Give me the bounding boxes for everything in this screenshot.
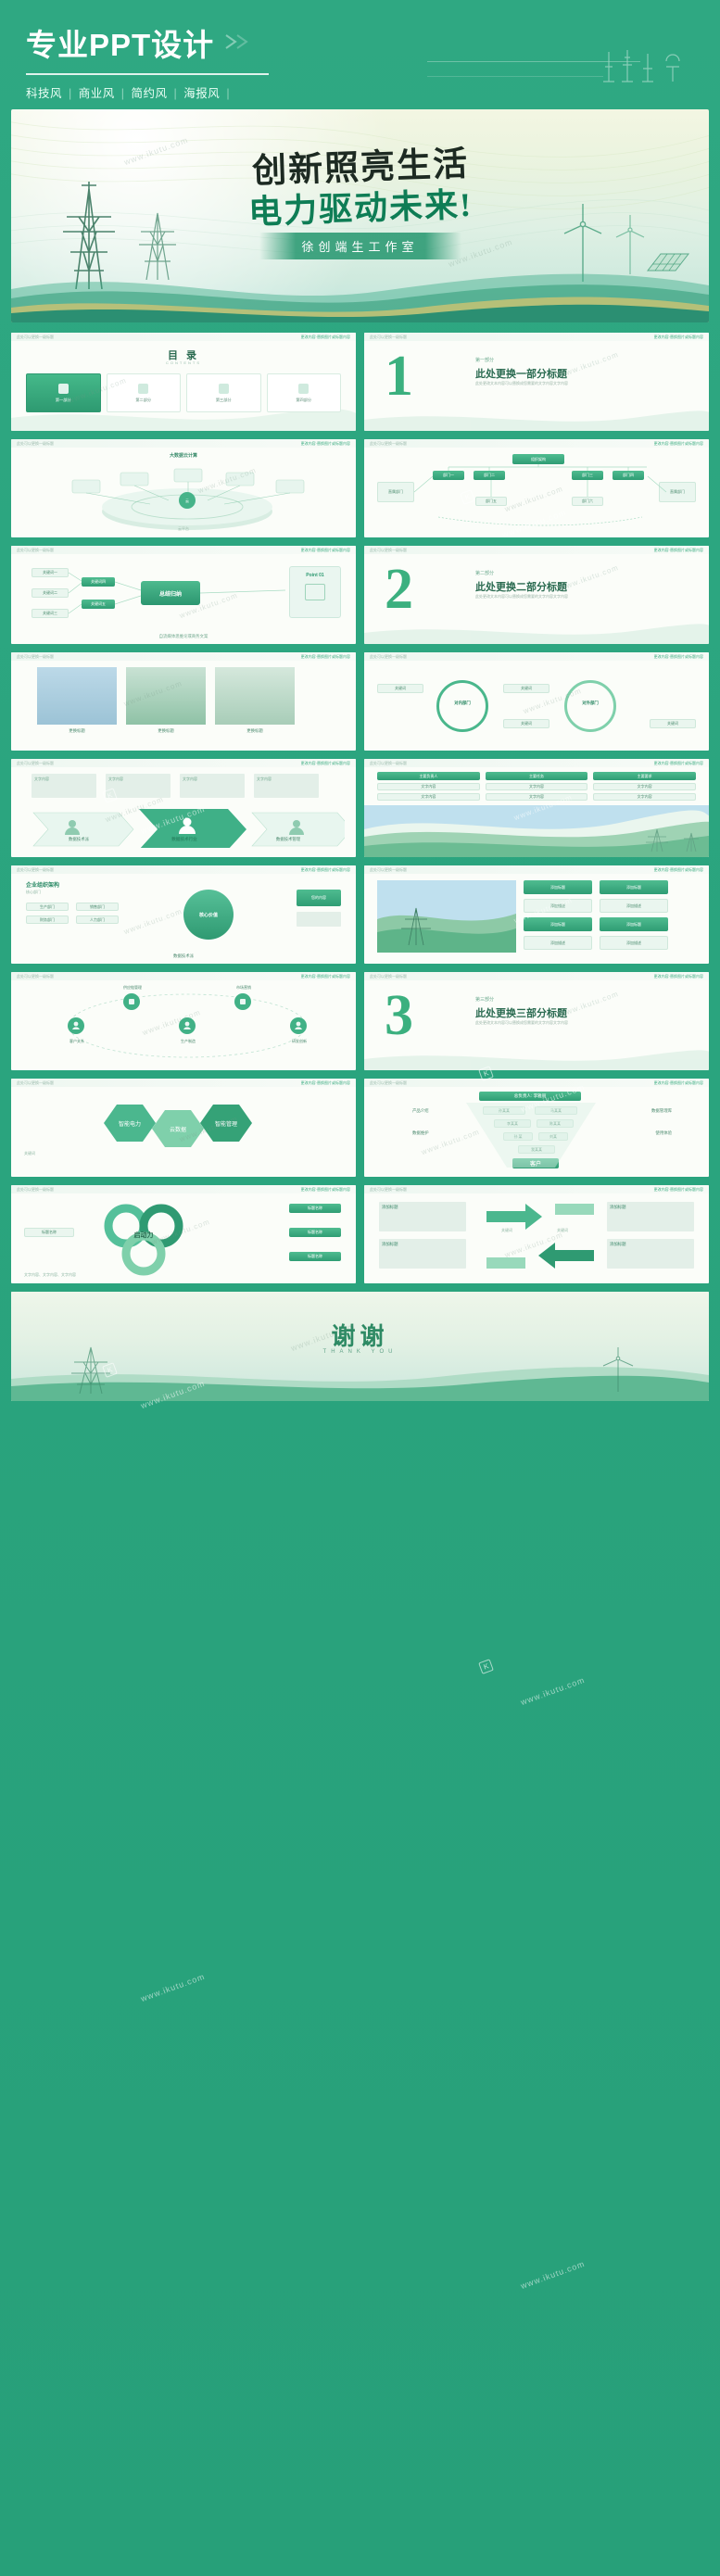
slide-arrow-cross[interactable]: 此处可以更换一级标题 更改内容·替换图片或标题内容 添加标题 添加标题 添加标题… <box>364 1185 709 1283</box>
slide-radial-diagram[interactable]: 此处可以更换一级标题 更改内容·替换图片或标题内容 大数据云计算 云 <box>11 439 356 537</box>
arrow-cross-diagram <box>477 1202 603 1270</box>
watermark-badge: K <box>478 1659 494 1674</box>
watermark: www.ikutu.com <box>559 563 619 592</box>
watermark: www.ikutu.com <box>122 907 183 936</box>
cross-card[interactable]: 添加标题 <box>607 1202 694 1231</box>
slide-topbar: 此处可以更换一级标题 更改内容·替换图片或标题内容 <box>364 546 709 554</box>
topbar-right: 更改内容·替换图片或标题内容 <box>301 761 350 766</box>
title-underline <box>26 73 269 75</box>
org-node[interactable]: 销售部门 <box>76 903 119 911</box>
topbar-left: 此处可以更换一级标题 <box>370 1187 407 1193</box>
document-icon <box>58 384 69 394</box>
ring-left[interactable] <box>436 680 488 732</box>
top-card-label: 文字内容 <box>32 774 96 785</box>
cycle-node-label: 供应链管理 <box>109 985 156 991</box>
section-number: 3 <box>385 987 413 1044</box>
cross-card-label: 添加标题 <box>607 1239 694 1250</box>
table-column-header: 主要要求 <box>593 772 696 780</box>
cross-card-label: 添加标题 <box>379 1239 466 1250</box>
top-card-label: 文字内容 <box>180 774 245 785</box>
briefcase-icon <box>298 384 309 394</box>
cycle-diagram <box>11 983 356 1068</box>
trefoil-item[interactable]: 标题名称 <box>289 1228 341 1237</box>
org-center-circle[interactable]: 核心价值 <box>183 890 234 940</box>
trefoil-item[interactable]: 标题名称 <box>289 1204 341 1213</box>
section-title: 此处更换三部分标题 <box>475 1005 567 1020</box>
topbar-right: 更改内容·替换图片或标题内容 <box>301 1187 350 1193</box>
slide-grid-cards[interactable]: 此处可以更换一级标题 更改内容·替换图片或标题内容 添加标题 添加标题 添加描述… <box>364 865 709 964</box>
slide-two-rings[interactable]: 此处可以更换一级标题 更改内容·替换图片或标题内容 对内部门 对外部门 关键词 … <box>364 652 709 751</box>
topbar-right: 更改内容·替换图片或标题内容 <box>654 548 703 553</box>
section-number: 1 <box>385 347 413 405</box>
wind-turbine-icon <box>592 1345 644 1392</box>
topbar-left: 此处可以更换一级标题 <box>17 867 54 873</box>
photo-thumbnail[interactable] <box>37 667 117 725</box>
photo-caption: 更换标题 <box>126 728 206 734</box>
table-column-header: 主要任务 <box>486 772 588 780</box>
slide-topbar: 此处可以更换一级标题 更改内容·替换图片或标题内容 <box>11 759 356 767</box>
radial-diagram: 云 <box>11 456 356 532</box>
grid-card[interactable]: 添加标题 <box>524 917 592 931</box>
slide-trefoil[interactable]: 此处可以更换一级标题 更改内容·替换图片或标题内容 启动力 标题名称 标题名称 … <box>11 1185 356 1283</box>
landscape-photo <box>364 805 709 857</box>
topbar-right: 更改内容·替换图片或标题内容 <box>301 974 350 979</box>
cross-card[interactable]: 添加标题 <box>379 1202 466 1231</box>
hex-caption: 关键词 <box>24 1151 35 1156</box>
cross-card[interactable]: 添加标题 <box>607 1239 694 1269</box>
photo-caption: 更换标题 <box>37 728 117 734</box>
topbar-right: 更改内容·替换图片或标题内容 <box>301 441 350 447</box>
svg-text:云: 云 <box>185 499 189 503</box>
topbar-left: 此处可以更换一级标题 <box>17 335 54 340</box>
ring-item[interactable]: 关键词 <box>650 719 696 728</box>
hero-wave <box>11 258 709 322</box>
slide-catalog[interactable]: 此处可以更换一级标题 更改内容·替换图片或标题内容 目 录 CONTENTS 第… <box>11 333 356 431</box>
slide-topbar: 此处可以更换一级标题 更改内容·替换图片或标题内容 <box>11 972 356 980</box>
org-side-card[interactable]: 您的内容 <box>297 890 341 906</box>
slide-thank-you[interactable]: 谢谢 THANK YOU www.ikutu.com <box>11 1292 709 1401</box>
table-cell: 文字内容 <box>377 783 480 790</box>
grid-card[interactable]: 添加标题 <box>524 880 592 894</box>
topbar-left: 此处可以更换一级标题 <box>17 441 54 447</box>
topbar-left: 此处可以更换一级标题 <box>370 867 407 873</box>
catalog-card-label: 第三部分 <box>216 398 232 403</box>
topbar-left: 此处可以更换一级标题 <box>17 654 54 660</box>
slide-org-tree[interactable]: 此处可以更换一级标题 更改内容·替换图片或标题内容 组织架构 直属部门 直属部门… <box>364 439 709 537</box>
hero-title-line2: 电力驱动未来! <box>247 178 474 234</box>
hero-slide: 创新照亮生活 电力驱动未来! 徐创端生工作室 www.ikutu.com www… <box>11 109 709 322</box>
slide-topbar: 此处可以更换一级标题 更改内容·替换图片或标题内容 <box>11 865 356 874</box>
grid-card[interactable]: 添加标题 <box>600 880 668 894</box>
trefoil-left-item[interactable]: 标题名称 <box>24 1228 74 1237</box>
table-row: 文字内容 文字内容 文字内容 <box>377 793 696 801</box>
org-node[interactable]: 财务部门 <box>26 915 69 924</box>
top-card-label: 文字内容 <box>106 774 171 785</box>
hero-subtitle: 徐创端生工作室 <box>259 233 461 259</box>
topbar-left: 此处可以更换一级标题 <box>17 1187 54 1193</box>
power-transmission-tower-icon <box>61 1342 126 1394</box>
catalog-card-label: 第一部分 <box>56 398 71 403</box>
table-cell: 文字内容 <box>486 793 588 801</box>
slide-hex-cluster[interactable]: 此处可以更换一级标题 更改内容·替换图片或标题内容 智能电力 云数据 智能管理 … <box>11 1079 356 1177</box>
svg-text:智能电力: 智能电力 <box>119 1120 141 1128</box>
slide-org-structure[interactable]: 此处可以更换一级标题 更改内容·替换图片或标题内容 企业组织架构 核心部门 生产… <box>11 865 356 964</box>
cross-card-label: 添加标题 <box>607 1202 694 1213</box>
people-icon <box>219 384 229 394</box>
svg-text:启动力: 启动力 <box>134 1231 154 1239</box>
slide-grid: 此处可以更换一级标题 更改内容·替换图片或标题内容 目 录 CONTENTS 第… <box>11 333 709 1401</box>
double-chevron-right-icon <box>224 33 256 55</box>
topbar-left: 此处可以更换一级标题 <box>17 1080 54 1086</box>
slide-mindmap[interactable]: 此处可以更换一级标题 更改内容·替换图片或标题内容 总结归纳 关键词一 关键词二… <box>11 546 356 644</box>
catalog-card-label: 第四部分 <box>296 398 311 403</box>
slide-topbar: 此处可以更换一级标题 更改内容·替换图片或标题内容 <box>11 1079 356 1087</box>
section-title: 此处更换二部分标题 <box>475 579 567 594</box>
tag-1: 商业风 <box>79 87 115 100</box>
svg-text:智能管理: 智能管理 <box>215 1120 237 1128</box>
slide-topbar: 此处可以更换一级标题 更改内容·替换图片或标题内容 <box>364 1185 709 1193</box>
topbar-left: 此处可以更换一级标题 <box>370 548 407 553</box>
topbar-right: 更改内容·替换图片或标题内容 <box>301 654 350 660</box>
table-cell: 文字内容 <box>377 793 480 801</box>
cross-center-label: 关键词 <box>557 1228 568 1233</box>
top-card[interactable]: 文字内容 <box>32 774 96 798</box>
ring-item[interactable]: 关键词 <box>503 719 549 728</box>
ring-item[interactable]: 关键词 <box>503 684 549 693</box>
header-decoration <box>427 48 696 93</box>
org-node[interactable]: 生产部门 <box>26 903 69 911</box>
tag-2: 简约风 <box>132 87 168 100</box>
slide-topbar: 此处可以更换一级标题 更改内容·替换图片或标题内容 <box>11 652 356 661</box>
top-card[interactable]: 文字内容 <box>180 774 245 798</box>
topbar-left: 此处可以更换一级标题 <box>370 761 407 766</box>
org-node[interactable]: 人力部门 <box>76 915 119 924</box>
page-title: 专业PPT设计 <box>26 20 214 65</box>
grid-photo[interactable] <box>377 880 516 953</box>
slide-funnel[interactable]: 此处可以更换一级标题 更改内容·替换图片或标题内容 总负责人: 李雅丽 孙某某 … <box>364 1079 709 1177</box>
grid-card[interactable]: 添加描述 <box>524 899 592 913</box>
top-card[interactable]: 文字内容 <box>254 774 319 798</box>
mindmap-connectors <box>11 546 356 644</box>
slide-topbar: 此处可以更换一级标题 更改内容·替换图片或标题内容 <box>11 1185 356 1193</box>
cross-center-label: 关键词 <box>501 1228 512 1233</box>
grid-card[interactable]: 添加标题 <box>600 917 668 931</box>
ring-right[interactable] <box>564 680 616 732</box>
topbar-right: 更改内容·替换图片或标题内容 <box>654 867 703 873</box>
slide-cycle[interactable]: 此处可以更换一级标题 更改内容·替换图片或标题内容 客户关系 供应链管理 <box>11 972 356 1070</box>
slide-topbar: 此处可以更换一级标题 更改内容·替换图片或标题内容 <box>11 333 356 341</box>
slide-table-photo[interactable]: 此处可以更换一级标题 更改内容·替换图片或标题内容 主要负责人 主要任务 主要要… <box>364 759 709 857</box>
cross-card-label: 添加标题 <box>379 1202 466 1213</box>
poster-page: 专业PPT设计 科技风|商业风|简约风|海报风| <box>0 0 720 2576</box>
svg-text:云数据: 云数据 <box>170 1126 186 1133</box>
slide-arrow-people[interactable]: 此处可以更换一级标题 更改内容·替换图片或标题内容 文字内容 文字内容 文字内容… <box>11 759 356 857</box>
section-desc: 此处更改文本内容可以替换成您需要的文字内容文字内容 <box>475 381 661 387</box>
catalog-subtitle: CONTENTS <box>11 360 356 365</box>
top-card-label: 文字内容 <box>254 774 319 785</box>
topbar-right: 更改内容·替换图片或标题内容 <box>654 974 703 979</box>
cycle-node-label: 生产制造 <box>165 1039 211 1044</box>
topbar-right: 更改内容·替换图片或标题内容 <box>654 761 703 766</box>
cycle-node-label: 客户关系 <box>54 1039 100 1044</box>
table-header-row: 主要负责人 主要任务 主要要求 <box>377 772 696 780</box>
org-structure-subtitle: 核心部门 <box>26 890 41 895</box>
tag-3: 海报风 <box>183 87 220 100</box>
cycle-node-label: 研发创新 <box>276 1039 322 1044</box>
org-side-placeholder <box>297 912 341 927</box>
watermark: www.ikutu.com <box>559 350 619 379</box>
trefoil-item[interactable]: 标题名称 <box>289 1252 341 1261</box>
section-title: 此处更换一部分标题 <box>475 366 567 381</box>
grid-card[interactable]: 添加描述 <box>600 936 668 950</box>
catalog-card-2[interactable]: 第二部分 <box>107 373 182 412</box>
topbar-right: 更改内容·替换图片或标题内容 <box>301 1080 350 1086</box>
header: 专业PPT设计 科技风|商业风|简约风|海报风| <box>0 0 720 109</box>
watermark: www.ikutu.com <box>519 1675 586 1707</box>
org-structure-title: 企业组织架构 <box>26 880 59 889</box>
catalog-card-label: 第二部分 <box>135 398 151 403</box>
slide-topbar: 此处可以更换一级标题 更改内容·替换图片或标题内容 <box>364 333 709 341</box>
slide-topbar: 此处可以更换一级标题 更改内容·替换图片或标题内容 <box>364 652 709 661</box>
topbar-right: 更改内容·替换图片或标题内容 <box>654 335 703 340</box>
funnel-shape <box>364 1079 709 1177</box>
topbar-right: 更改内容·替换图片或标题内容 <box>301 335 350 340</box>
cycle-node-label: 市场营销 <box>221 985 267 991</box>
catalog-card-1[interactable]: 第一部分 <box>26 373 101 412</box>
chart-icon <box>138 384 148 394</box>
slide-section-2[interactable]: 此处可以更换一级标题 更改内容·替换图片或标题内容 2 第二部分 此处更换二部分… <box>364 546 709 644</box>
grid-card[interactable]: 添加描述 <box>600 899 668 913</box>
topbar-right: 更改内容·替换图片或标题内容 <box>654 1187 703 1193</box>
slide-photo-strip[interactable]: 此处可以更换一级标题 更改内容·替换图片或标题内容 更换标题 更换标题 更换标题… <box>11 652 356 751</box>
table-cell: 文字内容 <box>593 783 696 790</box>
grid-card[interactable]: 添加描述 <box>524 936 592 950</box>
section-label: 第三部分 <box>475 996 494 1003</box>
slide-topbar: 此处可以更换一级标题 更改内容·替换图片或标题内容 <box>364 759 709 767</box>
topbar-right: 更改内容·替换图片或标题内容 <box>301 867 350 873</box>
section-desc: 此处更改文本内容可以替换成您需要的文字内容文字内容 <box>475 594 661 600</box>
trefoil-diagram: 启动力 <box>83 1204 204 1276</box>
diagram-caption: 云平台 <box>11 526 356 532</box>
slide-topbar: 此处可以更换一级标题 更改内容·替换图片或标题内容 <box>364 972 709 980</box>
table-cell: 文字内容 <box>593 793 696 801</box>
photo-thumbnail[interactable] <box>126 667 206 725</box>
topbar-left: 此处可以更换一级标题 <box>370 654 407 660</box>
watermark: www.ikutu.com <box>139 1972 206 2003</box>
section-number: 2 <box>385 561 413 618</box>
topbar-left: 此处可以更换一级标题 <box>17 761 54 766</box>
ring-item[interactable]: 关键词 <box>377 684 423 693</box>
hex-cluster-diagram: 智能电力 云数据 智能管理 <box>89 1101 285 1168</box>
slide-topbar: 此处可以更换一级标题 更改内容·替换图片或标题内容 <box>364 865 709 874</box>
table-column-header: 主要负责人 <box>377 772 480 780</box>
ring-right-label: 对外部门 <box>572 701 609 706</box>
ring-left-label: 对内部门 <box>444 701 481 706</box>
topbar-right: 更改内容·替换图片或标题内容 <box>654 654 703 660</box>
section-label: 第一部分 <box>475 357 494 363</box>
catalog-card-3[interactable]: 第三部分 <box>186 373 261 412</box>
topbar-left: 此处可以更换一级标题 <box>370 335 407 340</box>
slide-section-1[interactable]: 此处可以更换一级标题 更改内容·替换图片或标题内容 1 第一部分 此处更换一部分… <box>364 333 709 431</box>
watermark: www.ikutu.com <box>559 990 619 1018</box>
section-label: 第二部分 <box>475 570 494 576</box>
cross-card[interactable]: 添加标题 <box>379 1239 466 1269</box>
topbar-left: 此处可以更换一级标题 <box>17 974 54 979</box>
arrow-item-label: 数据技术行业 <box>141 837 228 842</box>
topbar-left: 此处可以更换一级标题 <box>370 974 407 979</box>
photo-caption: 更换标题 <box>215 728 295 734</box>
slide-topbar: 此处可以更换一级标题 更改内容·替换图片或标题内容 <box>11 439 356 448</box>
org-structure-caption: 数据技术派 <box>11 953 356 959</box>
arrow-item-label: 数据技术管理 <box>245 837 332 842</box>
slide-section-3[interactable]: 此处可以更换一级标题 更改内容·替换图片或标题内容 3 第三部分 此处更换三部分… <box>364 972 709 1070</box>
catalog-card-4[interactable]: 第四部分 <box>267 373 342 412</box>
arrow-item-label: 数据技术派 <box>35 837 122 842</box>
section-desc: 此处更改文本内容可以替换成您需要的文字内容文字内容 <box>475 1020 661 1027</box>
org-tree-connectors <box>364 439 709 537</box>
mindmap-caption: 自流媒体思维论或商务文案 <box>11 634 356 639</box>
table-cell: 文字内容 <box>486 783 588 790</box>
tag-0: 科技风 <box>26 87 62 100</box>
watermark: www.ikutu.com <box>519 2259 586 2291</box>
trefoil-caption: 文字内容、文字内容、文字内容 <box>24 1272 76 1278</box>
table-row: 文字内容 文字内容 文字内容 <box>377 783 696 790</box>
photo-thumbnail[interactable] <box>215 667 295 725</box>
catalog-cards: 第一部分 第二部分 第三部分 第四部分 <box>26 373 341 412</box>
